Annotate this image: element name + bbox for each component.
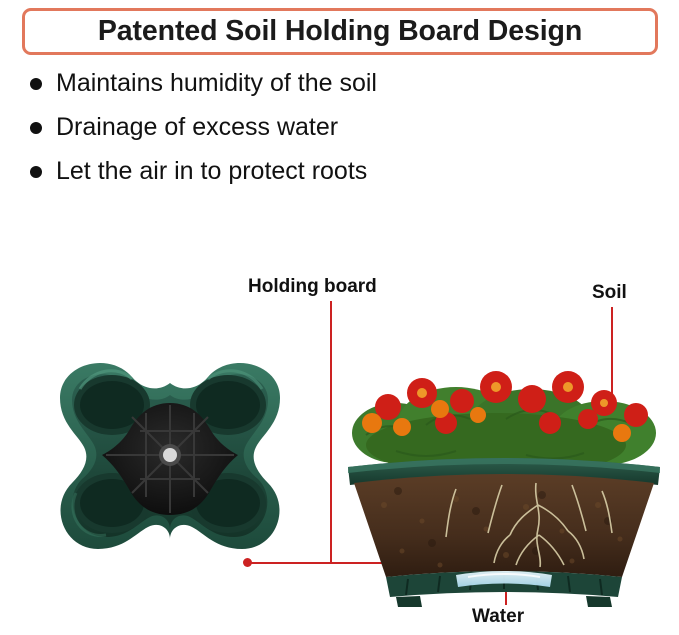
leader-line-holding-board <box>330 301 332 563</box>
planter-cross-section-illustration <box>336 315 672 615</box>
label-soil: Soil <box>592 282 627 304</box>
holding-board-top-view-illustration <box>20 343 320 593</box>
list-item: Let the air in to protect roots <box>30 154 650 198</box>
title-banner: Patented Soil Holding Board Design <box>22 8 658 55</box>
product-diagram: Holding board Soil Water <box>0 255 679 635</box>
label-holding-board: Holding board <box>248 276 377 298</box>
product-infographic: Patented Soil Holding Board Design Maint… <box>0 0 679 635</box>
bullet-dot-icon <box>30 166 42 178</box>
bullet-dot-icon <box>30 78 42 90</box>
feature-list: Maintains humidity of the soil Drainage … <box>30 66 650 198</box>
feature-text: Drainage of excess water <box>56 110 338 144</box>
page-title: Patented Soil Holding Board Design <box>98 15 582 48</box>
list-item: Maintains humidity of the soil <box>30 66 650 110</box>
bullet-dot-icon <box>30 122 42 134</box>
feature-text: Let the air in to protect roots <box>56 154 367 188</box>
list-item: Drainage of excess water <box>30 110 650 154</box>
feature-text: Maintains humidity of the soil <box>56 66 377 100</box>
